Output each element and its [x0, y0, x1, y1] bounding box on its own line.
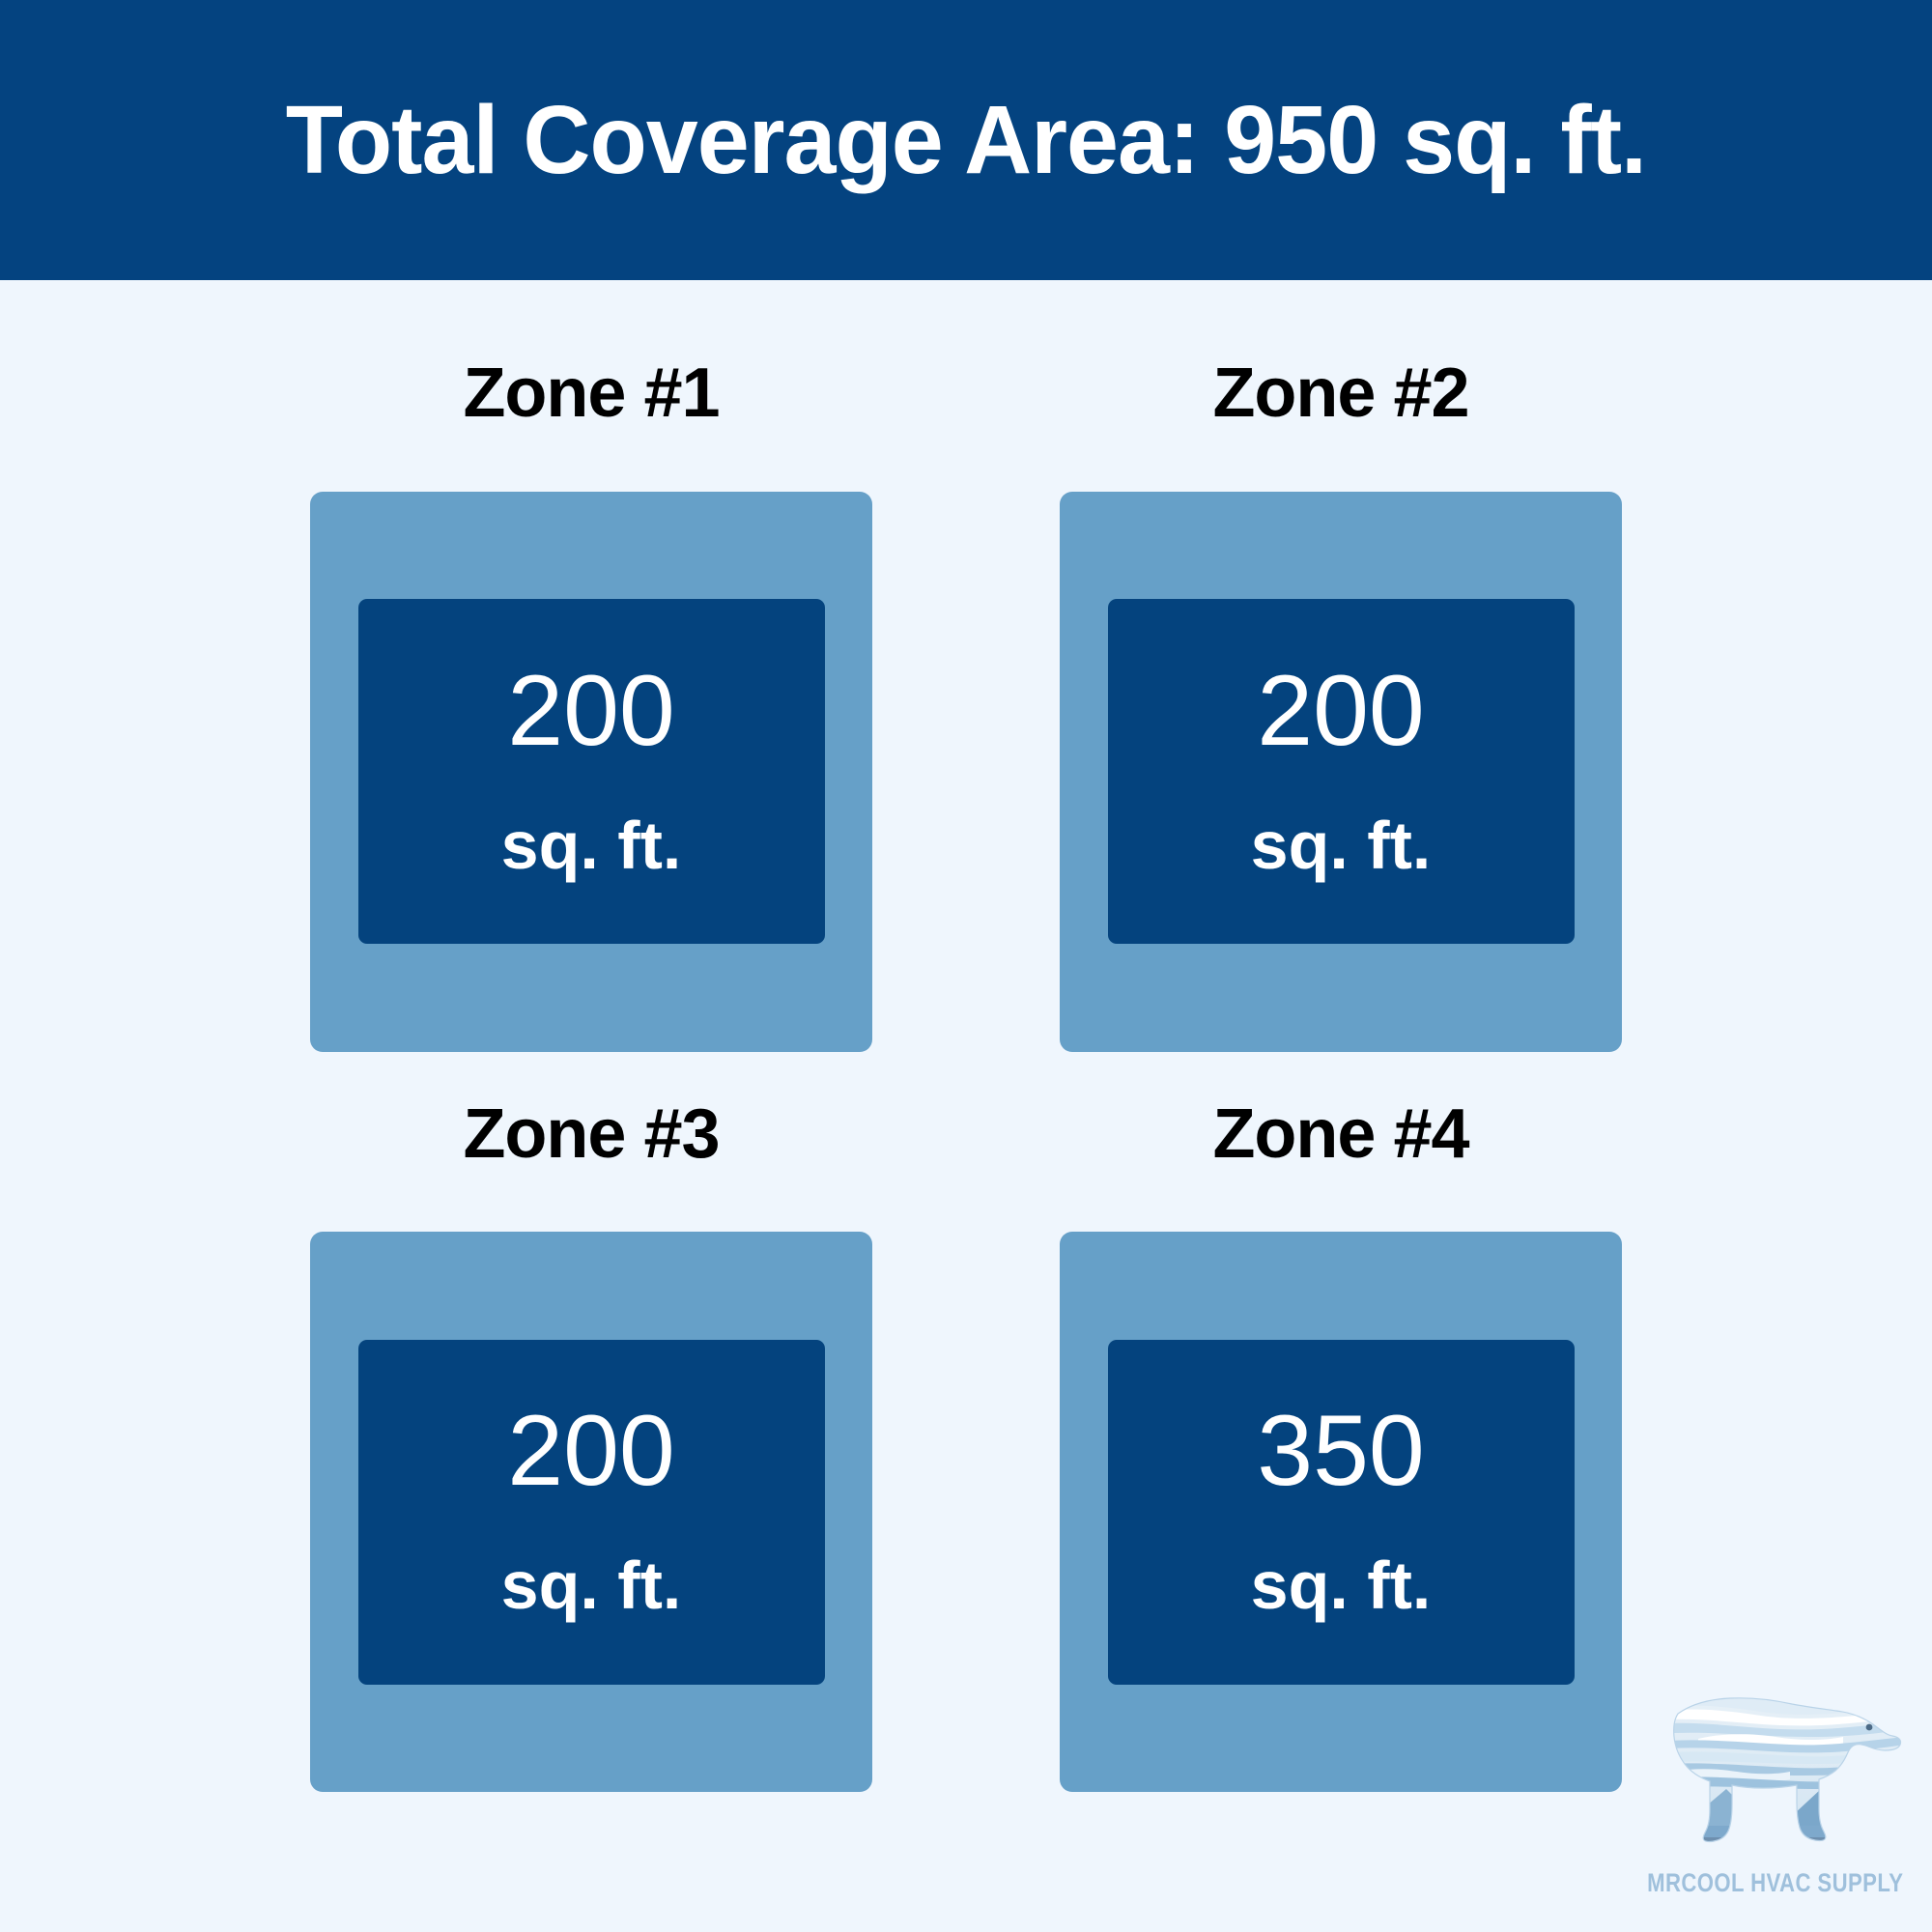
zone-grid: Zone #1 200 sq. ft. Zone #2 200 sq. ft. [302, 357, 1630, 1792]
zone-inner-panel-3: 200 sq. ft. [358, 1340, 825, 1685]
zone-label-1: Zone #1 [463, 357, 719, 431]
zone-row-bottom: Zone #3 200 sq. ft. Zone #4 350 sq. ft. [302, 1098, 1630, 1793]
zone-unit-4: sq. ft. [1251, 1551, 1432, 1619]
polar-bear-icon [1645, 1692, 1906, 1864]
header-banner: Total Coverage Area: 950 sq. ft. [0, 0, 1932, 280]
zone-block-2: Zone #2 200 sq. ft. [1052, 357, 1630, 1052]
zone-unit-1: sq. ft. [501, 811, 682, 879]
zone-card-4: 350 sq. ft. [1060, 1232, 1622, 1792]
zone-inner-panel-2: 200 sq. ft. [1108, 599, 1575, 944]
page-title: Total Coverage Area: 950 sq. ft. [286, 92, 1646, 188]
zone-inner-panel-1: 200 sq. ft. [358, 599, 825, 944]
row-spacer [302, 1052, 1630, 1098]
infographic-canvas: Total Coverage Area: 950 sq. ft. Zone #1… [0, 0, 1932, 1932]
zone-card-1: 200 sq. ft. [310, 492, 872, 1052]
zone-card-3: 200 sq. ft. [310, 1232, 872, 1792]
zone-label-4: Zone #4 [1212, 1098, 1468, 1172]
zone-value-1: 200 [507, 661, 675, 761]
bear-landscape-fill [1645, 1692, 1906, 1864]
brand-logo: MRCOOL HVAC SUPPLY [1631, 1692, 1920, 1924]
zone-value-4: 350 [1257, 1401, 1425, 1501]
bear-eye-icon [1866, 1724, 1873, 1731]
zone-row-top: Zone #1 200 sq. ft. Zone #2 200 sq. ft. [302, 357, 1630, 1052]
zone-value-2: 200 [1257, 661, 1425, 761]
zone-card-2: 200 sq. ft. [1060, 492, 1622, 1052]
brand-wordmark: MRCOOL HVAC SUPPLY [1647, 1868, 1903, 1898]
zone-block-4: Zone #4 350 sq. ft. [1052, 1098, 1630, 1793]
zone-label-2: Zone #2 [1212, 357, 1468, 431]
zone-unit-3: sq. ft. [501, 1551, 682, 1619]
zone-unit-2: sq. ft. [1251, 811, 1432, 879]
zone-block-1: Zone #1 200 sq. ft. [302, 357, 880, 1052]
zone-block-3: Zone #3 200 sq. ft. [302, 1098, 880, 1793]
zone-inner-panel-4: 350 sq. ft. [1108, 1340, 1575, 1685]
zone-value-3: 200 [507, 1401, 675, 1501]
zone-label-3: Zone #3 [463, 1098, 719, 1172]
